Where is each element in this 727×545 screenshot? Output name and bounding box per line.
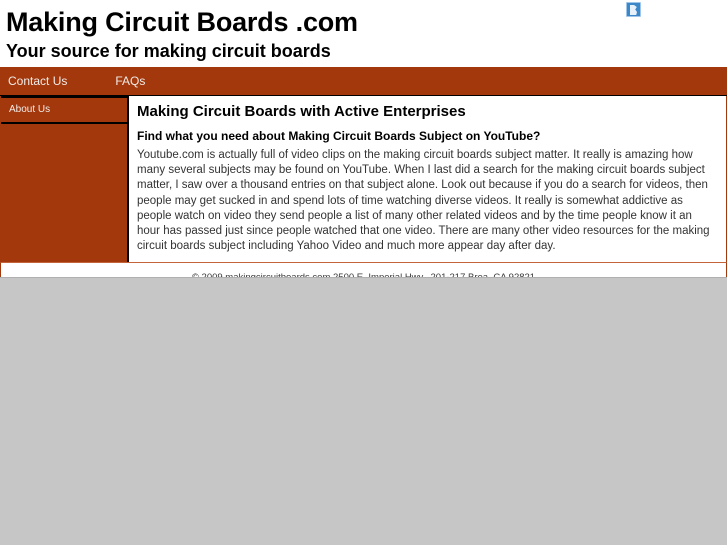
site-tagline: Your source for making circuit boards [6,38,727,63]
content-paragraph: Youtube.com is actually full of video cl… [137,148,718,254]
broken-image-icon [626,2,641,17]
content-subheading: Find what you need about Making Circuit … [137,128,718,144]
site-title: Making Circuit Boards .com [6,6,727,38]
primary-navigation: Contact Us FAQs [0,67,727,96]
nav-item-faqs[interactable]: FAQs [115,74,145,88]
page-title: Making Circuit Boards with Active Enterp… [137,102,718,121]
body-row: About Us Making Circuit Boards with Acti… [0,96,727,262]
site-masthead: Making Circuit Boards .com Your source f… [0,0,727,67]
page-container: Making Circuit Boards .com Your source f… [0,0,727,291]
desktop-background [0,277,727,545]
sidebar-item-about-us[interactable]: About Us [1,96,127,124]
sidebar: About Us [1,96,129,262]
main-content: Making Circuit Boards with Active Enterp… [129,96,726,262]
browser-viewport: Making Circuit Boards .com Your source f… [0,0,727,545]
nav-item-contact-us[interactable]: Contact Us [8,74,67,88]
sidebar-filler [1,124,127,244]
